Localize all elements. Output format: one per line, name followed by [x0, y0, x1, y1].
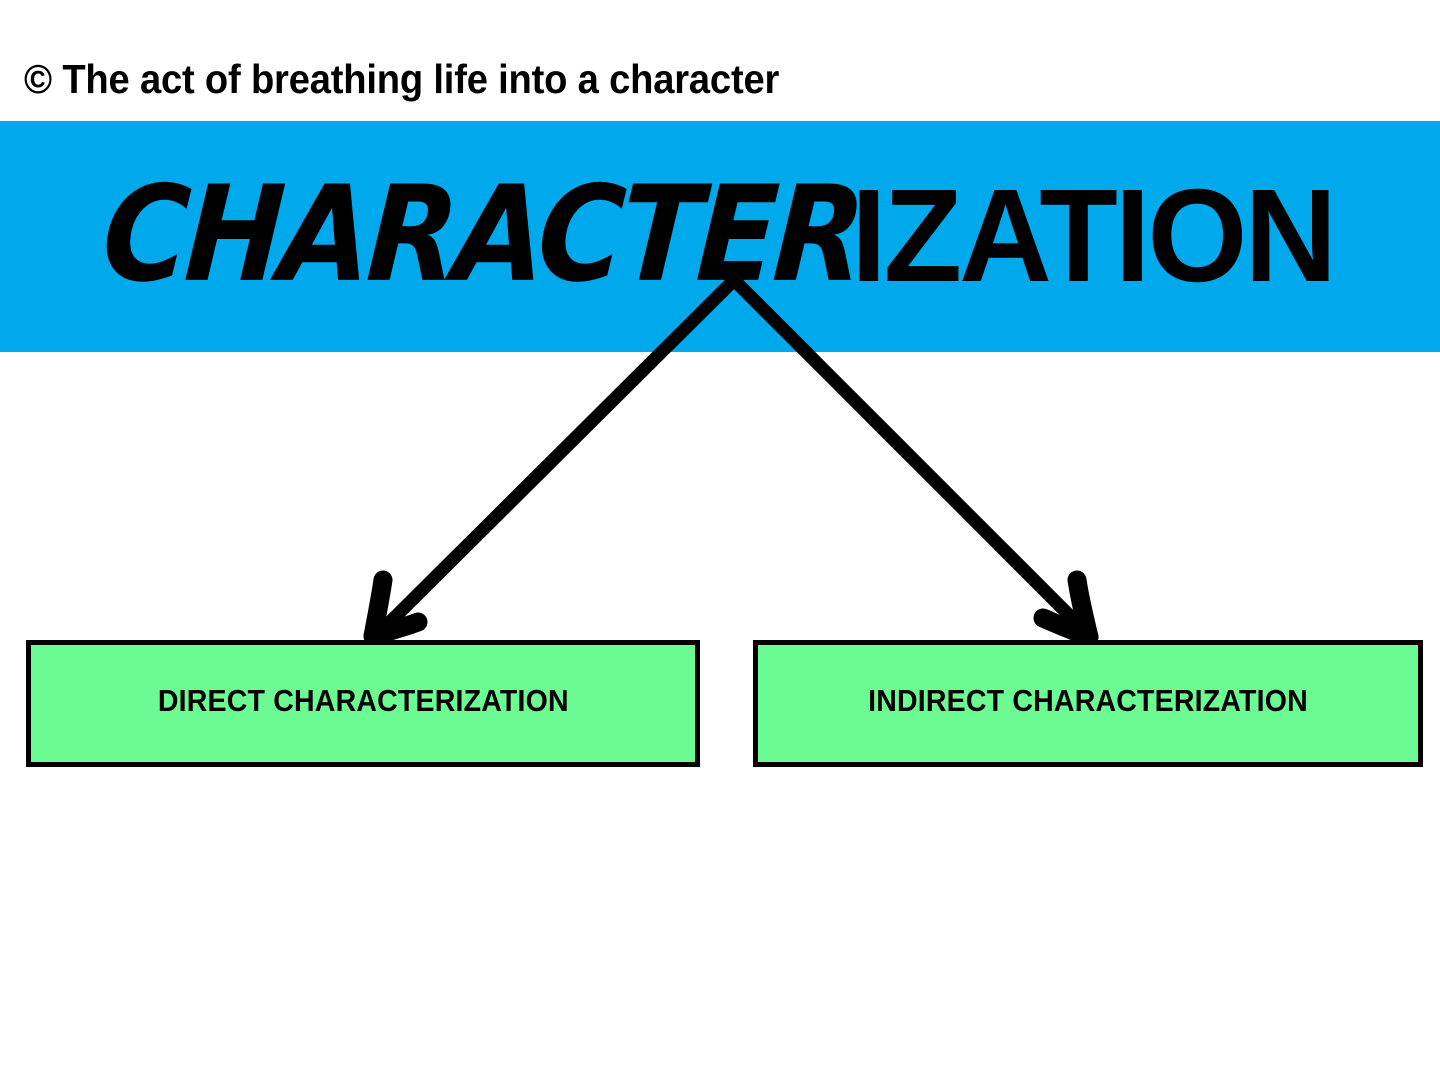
slide-caption: © The act of breathing life into a chara…: [24, 50, 1233, 108]
box-indirect-characterization[interactable]: INDIRECT CHARACTERIZATION: [753, 640, 1423, 767]
box-direct-characterization-label: DIRECT CHARACTERIZATION: [158, 683, 569, 719]
box-direct-characterization[interactable]: DIRECT CHARACTERIZATION: [26, 640, 700, 767]
box-indirect-characterization-label: INDIRECT CHARACTERIZATION: [868, 683, 1308, 719]
title-banner: [0, 121, 1440, 352]
slide-canvas: © The act of breathing life into a chara…: [0, 0, 1440, 1080]
